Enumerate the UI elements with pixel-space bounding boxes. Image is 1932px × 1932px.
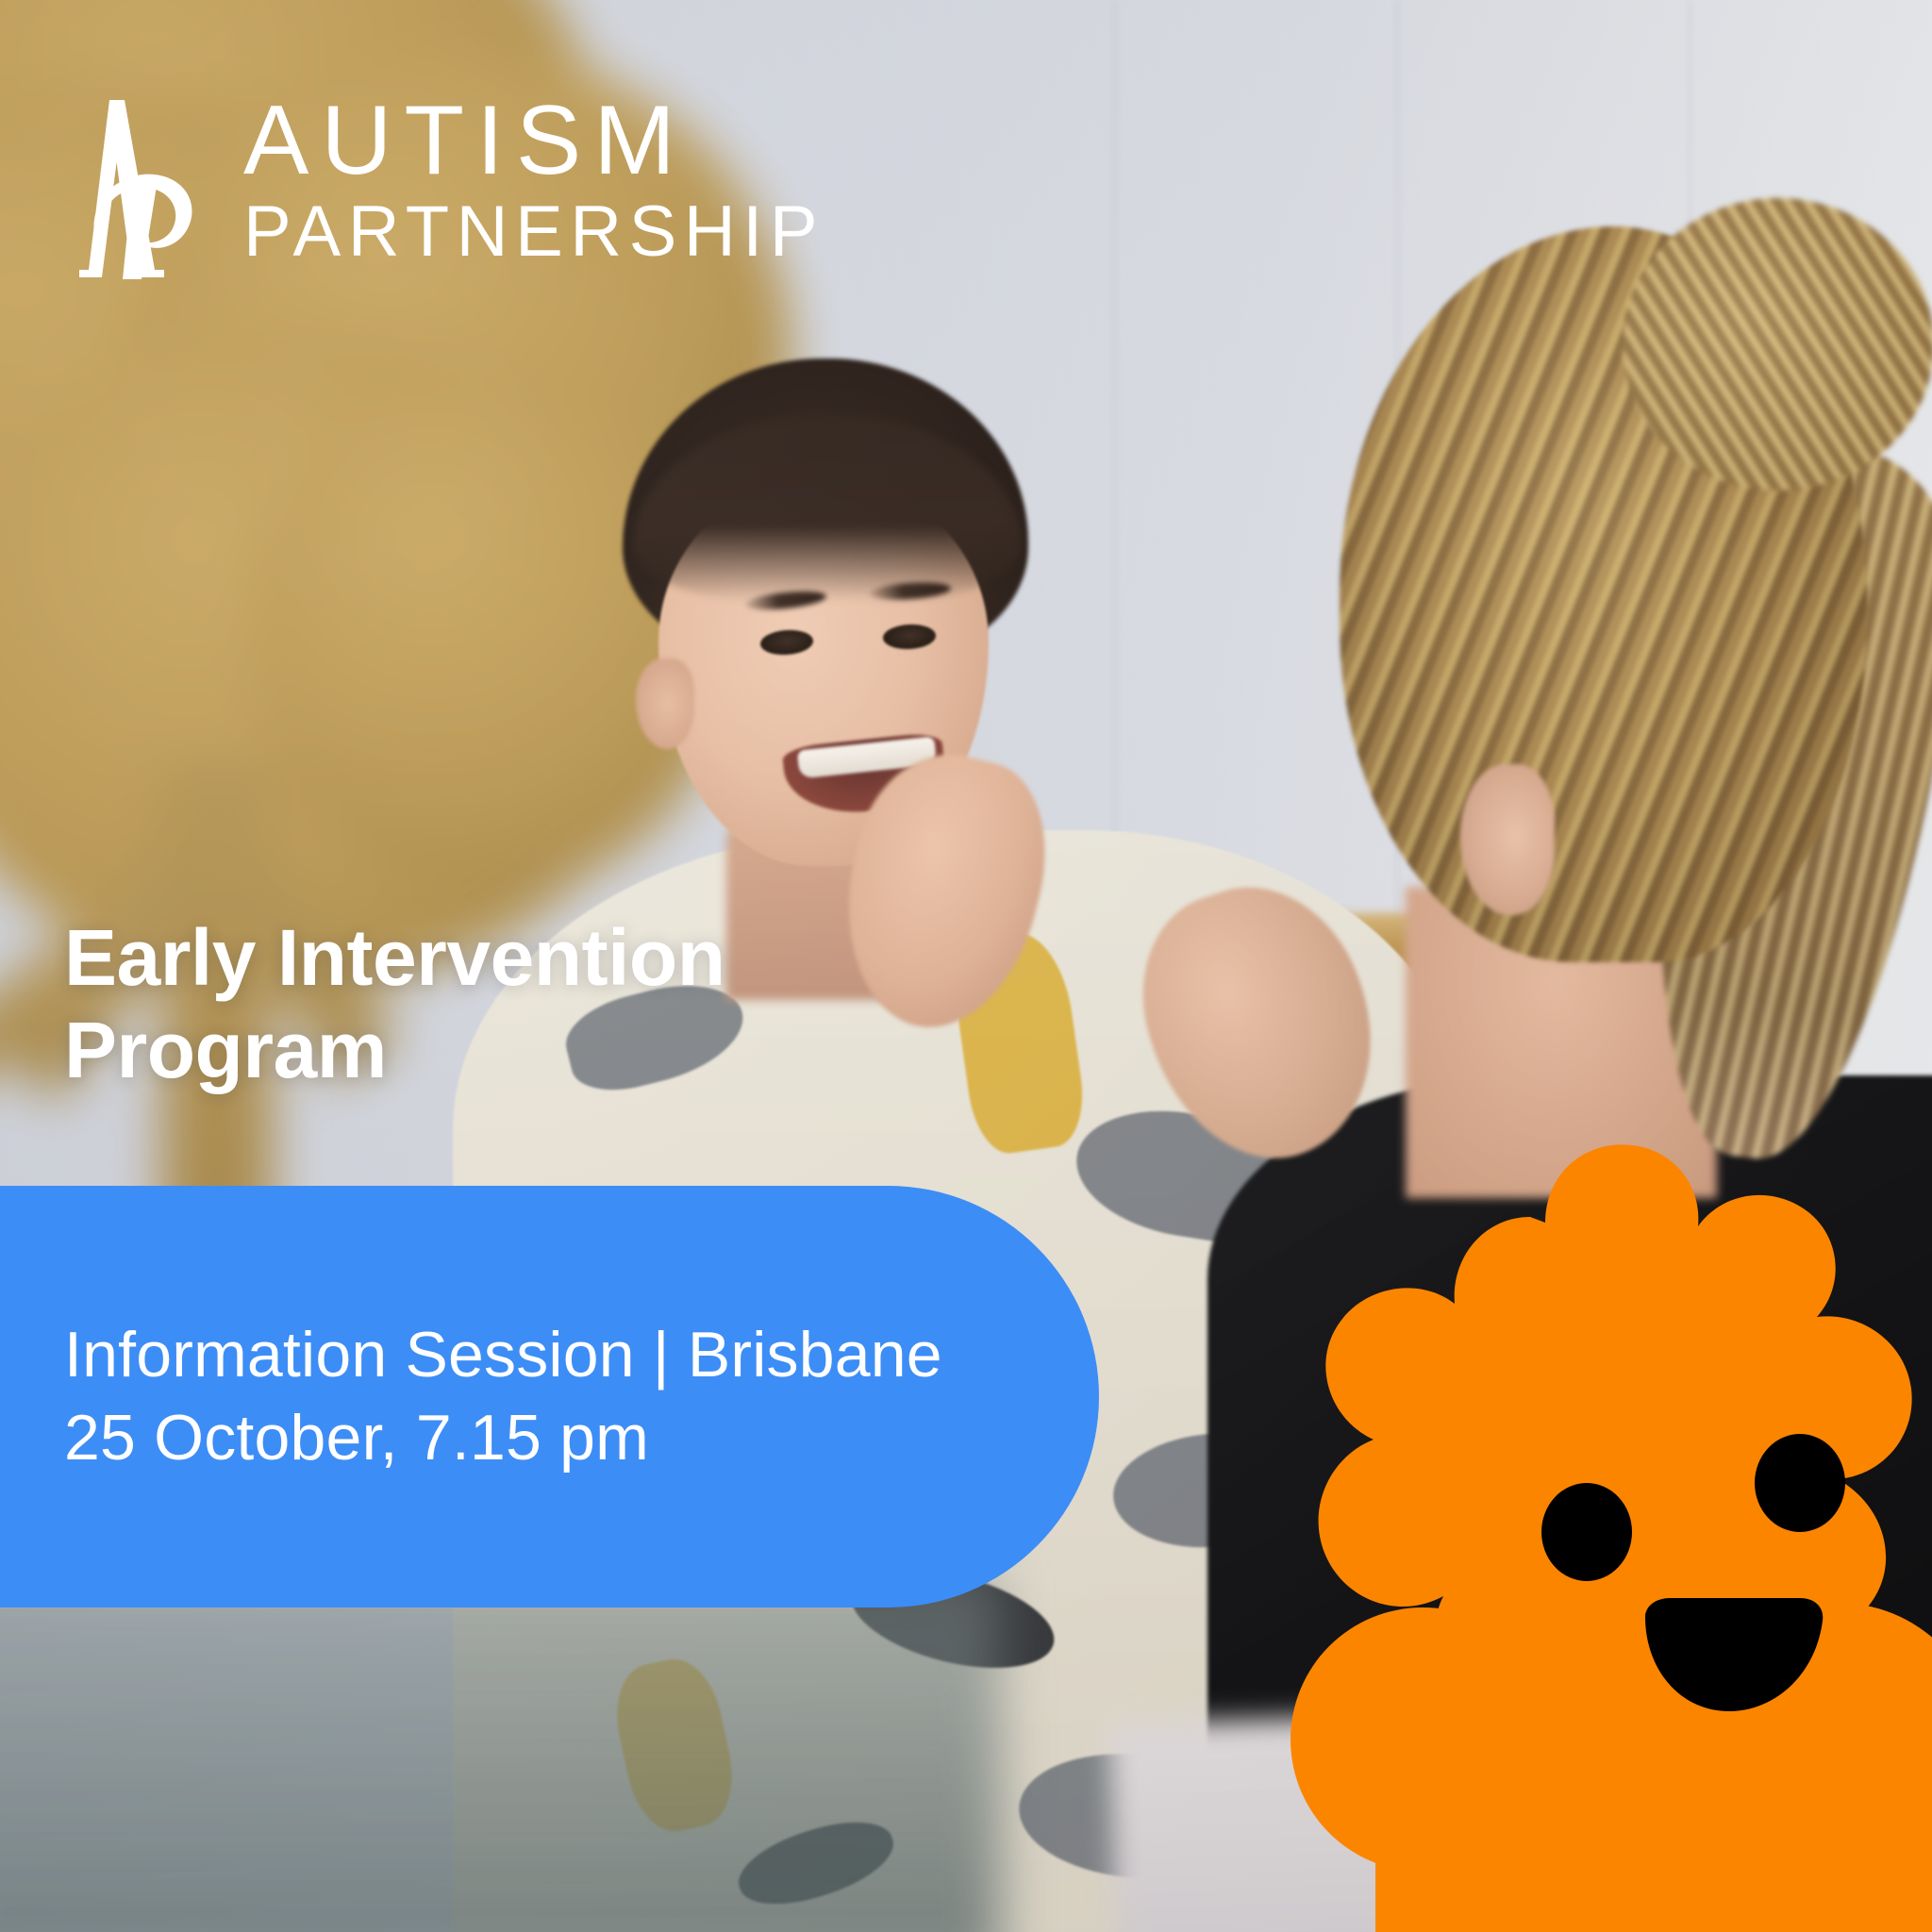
event-details-banner[interactable]: Information Session | Brisbane 25 Octobe… (0, 1186, 1099, 1607)
headline-line-2: Program (64, 1004, 725, 1096)
poster-canvas: AUTISM PARTNERSHIP Early Intervention Pr… (0, 0, 1932, 1932)
orange-cloud-face-mascot (1140, 1136, 1932, 1932)
therapist-hair-tie-bun (1623, 198, 1932, 491)
table-surface (0, 1574, 1000, 1932)
mascot-right-eye (1755, 1434, 1845, 1532)
headline-line-1: Early Intervention (64, 911, 725, 1004)
brand-name-primary: AUTISM (243, 94, 824, 189)
brand-name-secondary: PARTNERSHIP (243, 198, 824, 267)
banner-session-location: Information Session | Brisbane (64, 1314, 1099, 1396)
child-ear (636, 658, 694, 749)
autism-partnership-a-swoosh-mark (74, 94, 206, 283)
banner-date-time: 25 October, 7.15 pm (64, 1397, 1099, 1479)
therapist-ear (1460, 764, 1555, 915)
mascot-left-eye (1541, 1483, 1632, 1581)
brand-logo[interactable]: AUTISM PARTNERSHIP (74, 94, 824, 283)
brand-wordmark: AUTISM PARTNERSHIP (243, 94, 824, 267)
page-title: Early Intervention Program (64, 911, 725, 1097)
